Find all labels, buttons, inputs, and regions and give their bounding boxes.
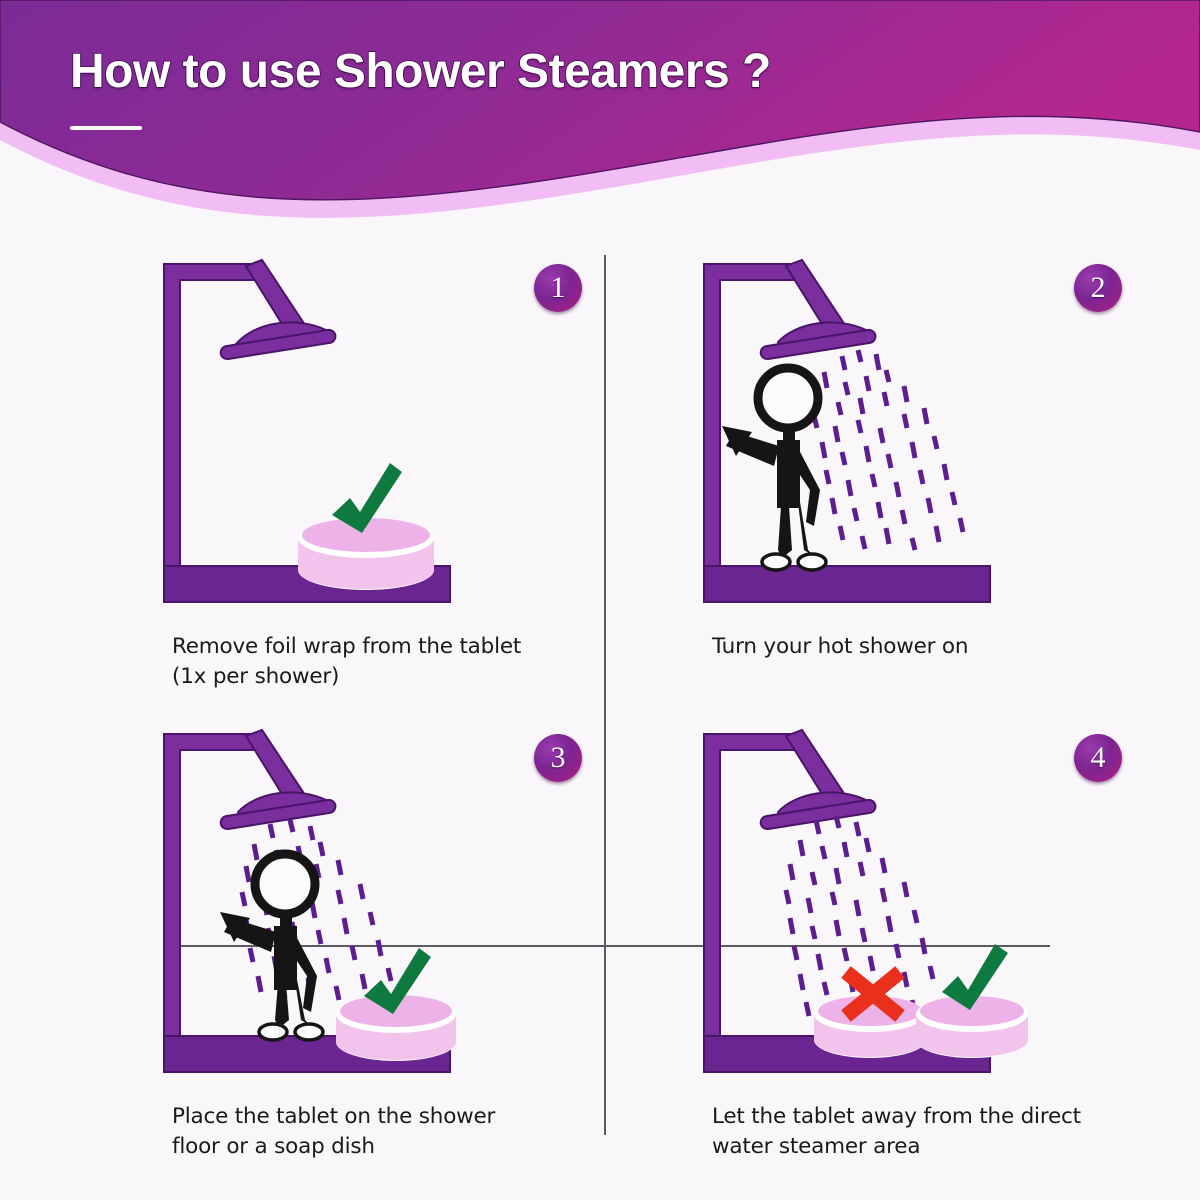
step-number-badge-2: 2 — [1074, 264, 1122, 312]
step-caption-3: Place the tablet on the shower floor or … — [172, 1102, 602, 1162]
step-1-illustration — [150, 250, 550, 620]
steps-grid: 1 Remove foil wrap from the tablet (1x p… — [0, 230, 1200, 1200]
step-number-badge-3: 3 — [534, 734, 582, 782]
step-2-illustration — [690, 250, 1090, 620]
step-caption-2: Turn your hot shower on — [712, 632, 1142, 662]
step-caption-4-line-1: Let the tablet away from the direct — [712, 1102, 1142, 1132]
step-number-4: 4 — [1091, 743, 1106, 773]
header-wave-graphic — [0, 0, 1200, 230]
step-4-illustration — [690, 720, 1090, 1090]
step-number-3: 3 — [551, 743, 566, 773]
tablet-puck-icon — [298, 518, 434, 590]
step-caption-1-line-1: Remove foil wrap from the tablet — [172, 632, 602, 662]
step-caption-4: Let the tablet away from the direct wate… — [712, 1102, 1142, 1162]
step-number-badge-4: 4 — [1074, 734, 1122, 782]
step-number-badge-1: 1 — [534, 264, 582, 312]
step-panel-2: 2 Turn your hot shower on — [690, 250, 1160, 705]
step-caption-1-line-2: (1x per shower) — [172, 662, 602, 692]
title-underline-rule — [70, 126, 142, 130]
water-spray-icon — [814, 350, 963, 550]
step-panel-1: 1 Remove foil wrap from the tablet (1x p… — [150, 250, 620, 705]
step-caption-3-line-1: Place the tablet on the shower — [172, 1102, 602, 1132]
stick-figure-icon — [722, 368, 826, 570]
step-caption-3-line-2: floor or a soap dish — [172, 1132, 602, 1162]
step-panel-3: 3 Place the tablet on the shower floor o… — [150, 720, 620, 1175]
step-number-2: 2 — [1091, 273, 1106, 303]
step-caption-1: Remove foil wrap from the tablet (1x per… — [172, 632, 602, 692]
step-caption-4-line-2: water steamer area — [712, 1132, 1142, 1162]
wave-header-body — [0, 0, 1200, 200]
step-number-1: 1 — [551, 273, 566, 303]
stick-figure-icon — [220, 854, 323, 1040]
step-3-illustration — [150, 720, 550, 1090]
page-title: How to use Shower Steamers ? — [70, 44, 771, 99]
page-header: How to use Shower Steamers ? — [0, 0, 1200, 230]
step-panel-4: 4 Let the tablet away from the direct wa… — [690, 720, 1160, 1175]
step-caption-2-line-1: Turn your hot shower on — [712, 632, 1142, 662]
